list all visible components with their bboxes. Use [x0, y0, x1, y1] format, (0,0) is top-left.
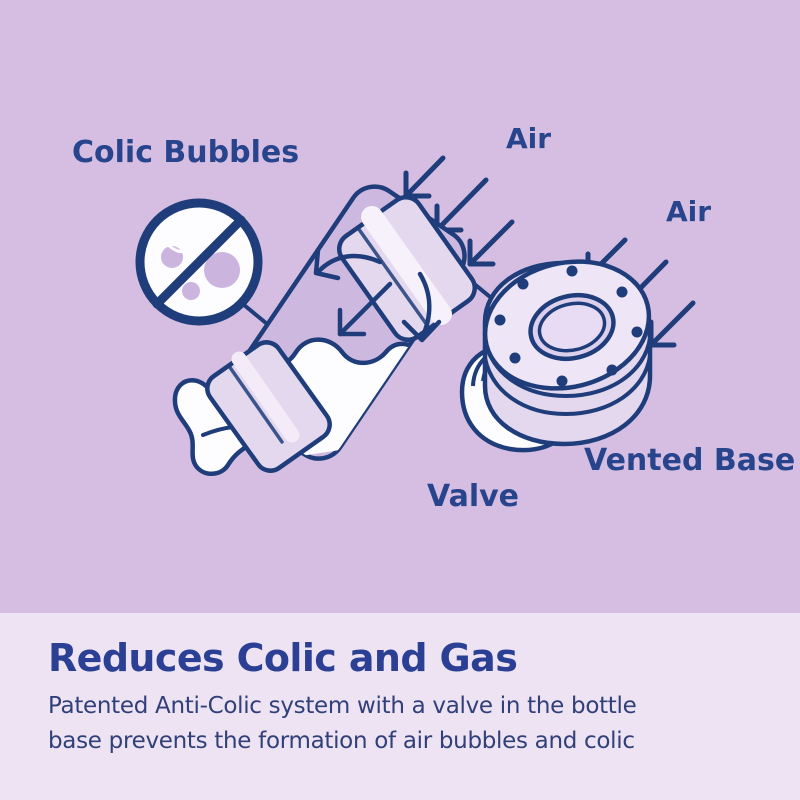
caption-panel: Reduces Colic and Gas Patented Anti-Coli…: [0, 613, 800, 800]
air-arrow-icon: [406, 158, 443, 196]
page-title: Reduces Colic and Gas: [48, 639, 752, 679]
caption-description: Patented Anti-Colic system with a valve …: [48, 689, 752, 759]
air-arrow-icon: [470, 222, 512, 264]
no-colic-bubbles-icon: [134, 203, 268, 330]
air-arrow-icon: [437, 180, 486, 230]
anti-colic-diagram: Colic Bubbles Air Air Valve Vented Base: [0, 0, 800, 613]
label-vented-base: Vented Base: [584, 443, 795, 478]
caption-line-1: Patented Anti-Colic system with a valve …: [48, 689, 752, 724]
caption-line-2: base prevents the formation of air bubbl…: [48, 724, 752, 759]
label-air-left: Air: [506, 122, 551, 155]
infographic-container: Colic Bubbles Air Air Valve Vented Base …: [0, 0, 800, 800]
vented-base-icon: [471, 245, 662, 444]
air-arrow-icon: [651, 303, 693, 345]
label-valve: Valve: [427, 479, 519, 514]
label-air-right: Air: [666, 195, 711, 228]
illustration-area: Colic Bubbles Air Air Valve Vented Base: [0, 0, 800, 613]
label-colic-bubbles: Colic Bubbles: [72, 135, 299, 170]
